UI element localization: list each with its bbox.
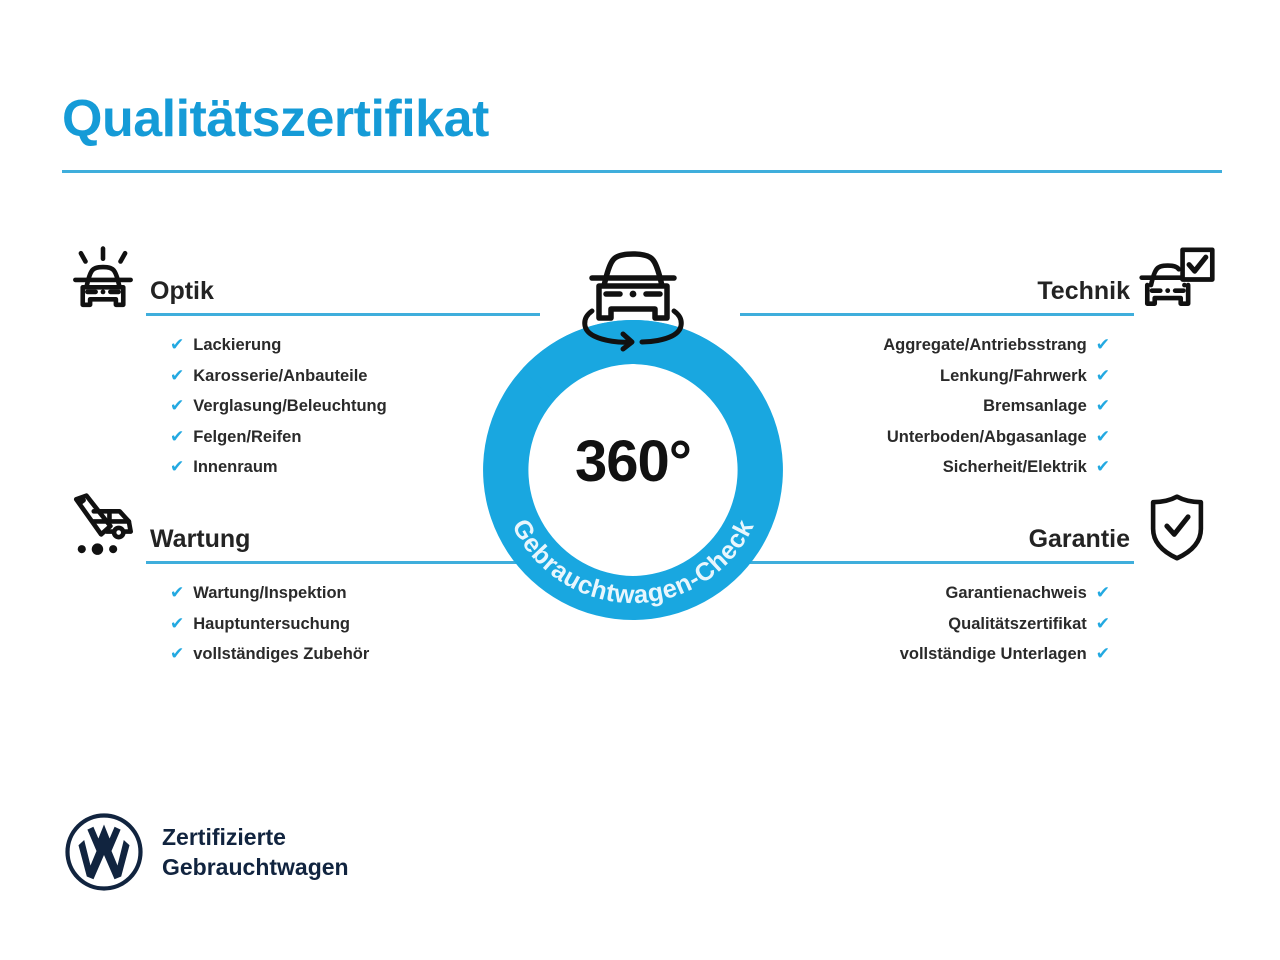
list-item-label: Innenraum xyxy=(193,459,277,476)
gebrauchtwagen-check-badge: Gebrauchtwagen-Check 360° xyxy=(462,320,804,620)
car-shine-icon xyxy=(60,240,146,318)
check-icon: ✔ xyxy=(170,645,184,662)
check-icon: ✔ xyxy=(170,367,184,384)
section-rule-technik xyxy=(740,313,1134,316)
list-item: vollständige Unterlagen ✔ xyxy=(740,645,1110,663)
car-rotation-icon xyxy=(568,248,698,352)
check-icon: ✔ xyxy=(1096,645,1110,662)
check-icon: ✔ xyxy=(170,336,184,353)
header-divider xyxy=(62,170,1222,173)
check-icon: ✔ xyxy=(1096,367,1110,384)
check-icon: ✔ xyxy=(170,428,184,445)
check-icon: ✔ xyxy=(170,458,184,475)
list-item-label: vollständige Unterlagen xyxy=(900,646,1087,663)
list-item-label: Felgen/Reifen xyxy=(193,429,301,446)
check-icon: ✔ xyxy=(170,615,184,632)
footer-brand: Zertifizierte Gebrauchtwagen xyxy=(64,812,349,892)
list-item: ✔ vollständiges Zubehör xyxy=(170,645,540,663)
page-title: Qualitätszertifikat xyxy=(62,91,489,148)
check-icon: ✔ xyxy=(170,397,184,414)
check-icon: ✔ xyxy=(170,584,184,601)
list-item-label: Bremsanlage xyxy=(983,398,1087,415)
check-icon: ✔ xyxy=(1096,615,1110,632)
list-item-label: Qualitätszertifikat xyxy=(948,616,1086,633)
list-item-label: Aggregate/Antriebsstrang xyxy=(883,337,1087,354)
list-item-label: Lenkung/Fahrwerk xyxy=(940,368,1087,385)
badge-center-label: 360° xyxy=(462,428,804,495)
list-item-label: Unterboden/Abgasanlage xyxy=(887,429,1087,446)
checklist-technik: Aggregate/Antriebsstrang ✔ Lenkung/Fahrw… xyxy=(740,318,1220,476)
section-title-optik: Optik xyxy=(146,277,540,313)
section-rule-optik xyxy=(146,313,540,316)
check-icon: ✔ xyxy=(1096,428,1110,445)
volkswagen-logo xyxy=(64,812,144,892)
list-item-label: Wartung/Inspektion xyxy=(193,585,346,602)
car-service-tool-icon xyxy=(60,488,146,566)
list-item-label: Hauptuntersuchung xyxy=(193,616,350,633)
check-icon: ✔ xyxy=(1096,336,1110,353)
list-item-label: Sicherheit/Elektrik xyxy=(943,459,1087,476)
check-icon: ✔ xyxy=(1096,397,1110,414)
list-item-label: Garantienachweis xyxy=(946,585,1087,602)
footer-brand-text: Zertifizierte Gebrauchtwagen xyxy=(162,822,349,883)
check-icon: ✔ xyxy=(1096,584,1110,601)
list-item-label: vollständiges Zubehör xyxy=(193,646,369,663)
section-technik: Technik Aggregate/Antriebsstrang ✔ Lenku… xyxy=(740,262,1220,489)
checklist-garantie: Garantienachweis ✔ Qualitätszertifikat ✔… xyxy=(740,566,1220,663)
list-item-label: Verglasung/Beleuchtung xyxy=(193,398,386,415)
section-garantie: Garantie Garantienachweis ✔ Qualitätszer… xyxy=(740,510,1220,676)
car-checkbox-icon xyxy=(1134,240,1220,318)
list-item-label: Karosserie/Anbauteile xyxy=(193,368,367,385)
shield-check-icon xyxy=(1134,488,1220,566)
check-icon: ✔ xyxy=(1096,458,1110,475)
list-item-label: Lackierung xyxy=(193,337,281,354)
section-title-technik: Technik xyxy=(740,277,1134,313)
